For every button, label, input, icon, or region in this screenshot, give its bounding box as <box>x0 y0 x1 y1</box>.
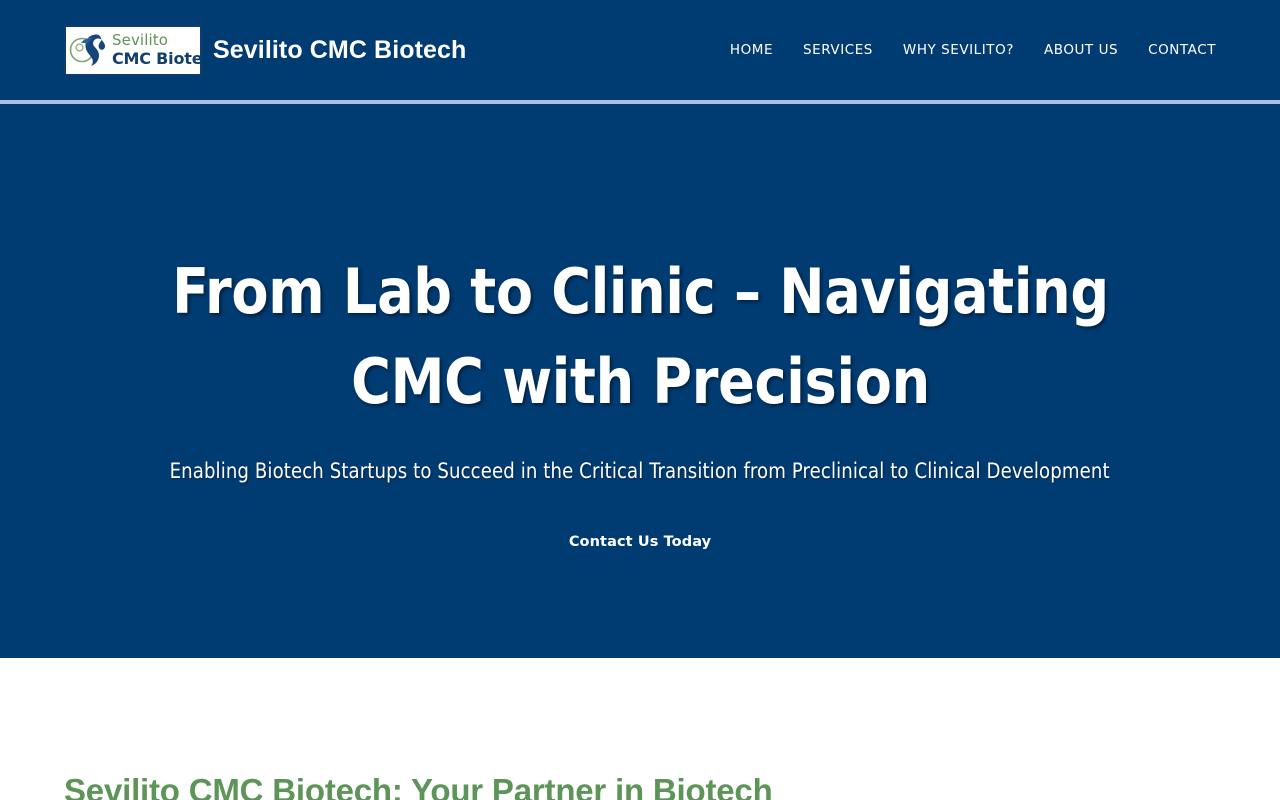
brand-logo-link[interactable]: Sevilito CMC Biotech Sevilito CMC Biotec… <box>64 25 466 76</box>
nav-item-contact[interactable]: CONTACT <box>1148 42 1216 58</box>
logo-wordmark: Sevilito CMC Biotech <box>112 33 202 67</box>
site-header: Sevilito CMC Biotech Sevilito CMC Biotec… <box>0 0 1280 100</box>
contact-us-today-button[interactable]: Contact Us Today <box>569 534 711 550</box>
logo-word-sevilito: Sevilito <box>112 33 202 48</box>
sevilito-droplet-logo-icon <box>69 29 111 71</box>
hero-title: From Lab to Clinic – Navigating CMC with… <box>99 247 1181 427</box>
intro-content-section: Sevilito CMC Biotech: Your Partner in Bi… <box>0 658 1280 800</box>
site-title: Sevilito CMC Biotech <box>213 36 466 65</box>
nav-item-home[interactable]: HOME <box>730 42 773 58</box>
nav-item-about-us[interactable]: ABOUT US <box>1044 42 1118 58</box>
hero-subtitle: Enabling Biotech Startups to Succeed in … <box>170 459 1110 483</box>
logo-word-cmc-biotech: CMC Biotech <box>112 51 202 67</box>
main-navigation: HOME SERVICES WHY SEVILITO? ABOUT US CON… <box>730 42 1216 58</box>
logo-image: Sevilito CMC Biotech <box>64 25 202 76</box>
section-heading-partner: Sevilito CMC Biotech: Your Partner in Bi… <box>64 772 773 800</box>
nav-item-services[interactable]: SERVICES <box>803 42 873 58</box>
nav-item-why-sevilito[interactable]: WHY SEVILITO? <box>903 42 1014 58</box>
hero-section: From Lab to Clinic – Navigating CMC with… <box>0 104 1280 658</box>
